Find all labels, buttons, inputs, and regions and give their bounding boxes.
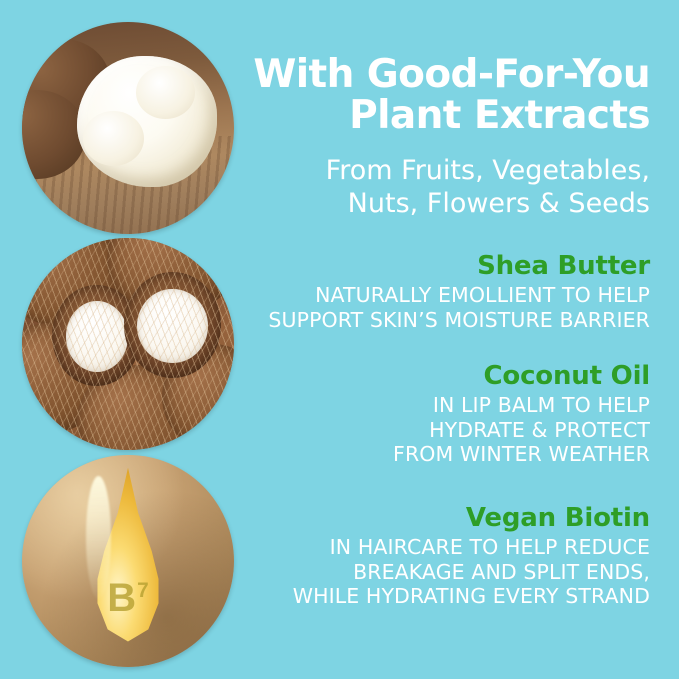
ingredient-description: NATURALLY EMOLLIENT TO HELP SUPPORT SKIN… (250, 283, 650, 332)
ingredient-coconut-oil: Coconut Oil IN LIP BALM TO HELP HYDRATE … (250, 362, 650, 467)
biotin-droplet-image: B7 (22, 455, 234, 667)
ingredient-description-line: BREAKAGE AND SPLIT ENDS, (250, 560, 650, 585)
ingredient-shea-butter: Shea Butter NATURALLY EMOLLIENT TO HELP … (250, 252, 650, 332)
ingredient-description-line: WHILE HYDRATING EVERY STRAND (250, 584, 650, 609)
coconut-image (22, 238, 234, 450)
ingredient-description: IN LIP BALM TO HELP HYDRATE & PROTECT FR… (250, 393, 650, 467)
coconut-flesh (66, 301, 128, 372)
ingredient-infographic: B7 With Good-For-You Plant Extracts From… (0, 0, 679, 679)
ingredient-description: IN HAIRCARE TO HELP REDUCE BREAKAGE AND … (250, 535, 650, 609)
ingredient-description-line: IN LIP BALM TO HELP (250, 393, 650, 418)
shea-butter-photo (22, 22, 234, 234)
ingredient-description-line: HYDRATE & PROTECT (250, 418, 650, 443)
subheadline: From Fruits, Vegetables, Nuts, Flowers &… (250, 155, 650, 221)
ingredient-title: Shea Butter (250, 252, 650, 281)
ingredient-description-line: NATURALLY EMOLLIENT TO HELP (250, 283, 650, 308)
coconut-photo (22, 238, 234, 450)
biotin-superscript: 7 (137, 579, 149, 602)
headline-line-2: Plant Extracts (250, 96, 650, 137)
ingredient-description-line: FROM WINTER WEATHER (250, 442, 650, 467)
biotin-letter: B (107, 576, 136, 620)
ingredient-description-line: SUPPORT SKIN’S MOISTURE BARRIER (250, 308, 650, 333)
shea-butter-image (22, 22, 234, 234)
ingredient-description-line: IN HAIRCARE TO HELP REDUCE (250, 535, 650, 560)
subheadline-line-1: From Fruits, Vegetables, (250, 155, 650, 188)
biotin-b7-label: B7 (22, 578, 234, 618)
ingredient-title: Vegan Biotin (250, 504, 650, 533)
subheadline-line-2: Nuts, Flowers & Seeds (250, 188, 650, 221)
coconut-half (124, 272, 222, 378)
coconut-flesh (137, 289, 207, 363)
ingredient-title: Coconut Oil (250, 362, 650, 391)
headline: With Good-For-You Plant Extracts (250, 55, 650, 137)
headline-line-1: With Good-For-You (253, 52, 650, 97)
biotin-droplet-photo: B7 (22, 455, 234, 667)
photo-column: B7 (0, 0, 250, 679)
ingredient-vegan-biotin: Vegan Biotin IN HAIRCARE TO HELP REDUCE … (250, 504, 650, 609)
text-column: With Good-For-You Plant Extracts From Fr… (250, 0, 650, 679)
shea-butter-mound (77, 56, 217, 187)
